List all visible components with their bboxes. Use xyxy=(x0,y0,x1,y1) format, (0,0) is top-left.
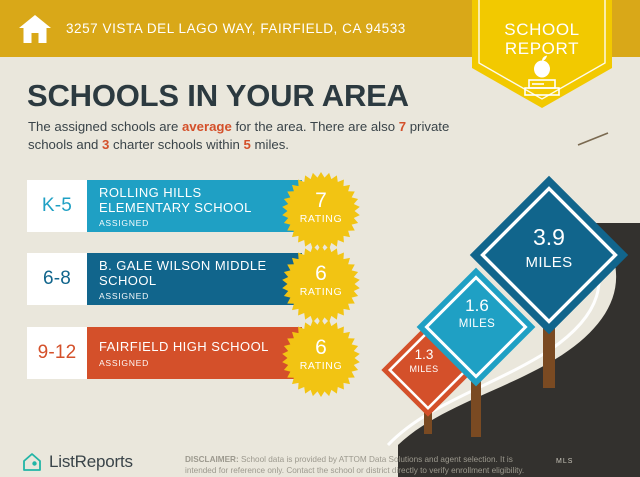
grade-range-label: K-5 xyxy=(42,195,72,217)
rating-badge: 6 RATING xyxy=(282,245,360,323)
house-logo-icon xyxy=(22,452,42,472)
property-address: 3257 VISTA DEL LAGO WAY, FAIRFIELD, CA 9… xyxy=(66,21,406,36)
grade-range-label: 6-8 xyxy=(43,268,71,290)
grade-range-label: 9-12 xyxy=(38,342,77,364)
school-info: ROLLING HILLS ELEMENTARY SCHOOL ASSIGNED xyxy=(87,180,302,232)
school-row[interactable]: K-5 ROLLING HILLS ELEMENTARY SCHOOL ASSI… xyxy=(27,180,302,232)
school-name: FAIRFIELD HIGH SCHOOL xyxy=(99,340,292,355)
subtitle-part-1: The assigned schools are xyxy=(28,119,182,134)
rating-badge: 7 RATING xyxy=(282,172,360,250)
school-info: FAIRFIELD HIGH SCHOOL ASSIGNED xyxy=(87,327,302,379)
disclaimer-label: DISCLAIMER: xyxy=(185,455,239,464)
school-name: B. GALE WILSON MIDDLE SCHOOL xyxy=(99,259,292,288)
page-title: SCHOOLS IN YOUR AREA xyxy=(27,78,409,114)
brand-name: ListReports xyxy=(49,452,133,472)
school-report-infographic: 3257 VISTA DEL LAGO WAY, FAIRFIELD, CA 9… xyxy=(0,0,640,477)
disclaimer-text: DISCLAIMER: School data is provided by A… xyxy=(185,455,545,476)
grade-range-box: 6-8 xyxy=(27,253,87,305)
road-illustration: 3.9 MILES 1.6 MILES 1.3 MILES xyxy=(380,115,640,477)
rating-label: RATING xyxy=(282,286,360,298)
road-graphic xyxy=(380,115,640,477)
grade-range-box: K-5 xyxy=(27,180,87,232)
distance-value: 1.3 xyxy=(396,348,452,362)
subtitle-part-4: charter schools within xyxy=(109,137,243,152)
rating-value: 6 xyxy=(282,263,360,284)
school-info: B. GALE WILSON MIDDLE SCHOOL ASSIGNED xyxy=(87,253,302,305)
distance-unit: MILES xyxy=(504,255,594,270)
distance-value: 1.6 xyxy=(442,297,512,314)
rating-value: 7 xyxy=(282,190,360,211)
banner-line-2: REPORT xyxy=(472,39,612,58)
banner-line-1: SCHOOL xyxy=(472,20,612,39)
rating-value: 6 xyxy=(282,337,360,358)
school-status: ASSIGNED xyxy=(99,218,292,228)
school-row[interactable]: 9-12 FAIRFIELD HIGH SCHOOL ASSIGNED xyxy=(27,327,302,379)
listreports-logo: ListReports xyxy=(22,452,133,472)
school-report-banner: SCHOOL REPORT xyxy=(472,0,612,108)
rating-badge: 6 RATING xyxy=(282,319,360,397)
subtitle-part-2: for the area. There are also xyxy=(232,119,399,134)
school-status: ASSIGNED xyxy=(99,291,292,301)
distance-value: 3.9 xyxy=(504,226,594,249)
distance-unit: MILES xyxy=(396,365,452,374)
mls-label: MLS xyxy=(556,458,573,465)
mls-watermark: MLS xyxy=(556,458,573,465)
school-row[interactable]: 6-8 B. GALE WILSON MIDDLE SCHOOL ASSIGNE… xyxy=(27,253,302,305)
home-icon xyxy=(18,13,52,45)
grade-range-box: 9-12 xyxy=(27,327,87,379)
rating-label: RATING xyxy=(282,213,360,225)
subtitle-highlight-average: average xyxy=(182,119,232,134)
subtitle-highlight-radius: 5 xyxy=(244,137,251,152)
school-name: ROLLING HILLS ELEMENTARY SCHOOL xyxy=(99,186,292,215)
subtitle-part-5: miles. xyxy=(251,137,289,152)
distance-unit: MILES xyxy=(442,319,512,331)
school-status: ASSIGNED xyxy=(99,358,292,368)
rating-label: RATING xyxy=(282,360,360,372)
